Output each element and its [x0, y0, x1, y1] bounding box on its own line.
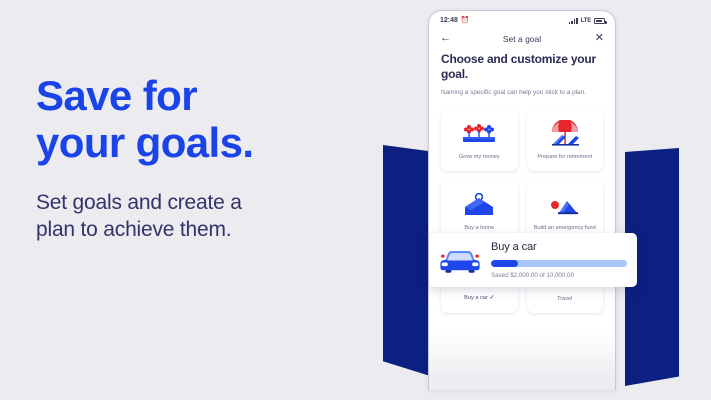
goal-progress-body: Buy a car Saved $2,000.00 of 10,000.00	[491, 241, 627, 279]
goal-tile-grow-my-money[interactable]: Grow my money	[441, 109, 518, 171]
screen-heading: Choose and customize your goal.	[441, 52, 603, 81]
goal-progress-card[interactable]: Buy a car Saved $2,000.00 of 10,000.00	[429, 233, 637, 287]
progress-label: Saved $2,000.00 of 10,000.00	[491, 272, 627, 279]
house-icon	[463, 190, 495, 220]
status-bar-left: 12:48 ⏰	[440, 17, 470, 24]
screen-heading-line-1: Choose and customize your	[441, 52, 596, 66]
headline-line-2: your goals.	[36, 119, 356, 166]
subhead-line-2: plan to achieve them.	[36, 217, 356, 244]
goal-tile-prepare-for-retirement[interactable]: Prepare for retirement	[527, 109, 604, 171]
screen-hint: Naming a specific goal can help you stic…	[441, 89, 603, 97]
phone-mockup: 12:48 ⏰ LTE ← Set a goal ✕ Choose and cu…	[428, 10, 616, 390]
status-bar: 12:48 ⏰ LTE	[429, 11, 615, 26]
phone-bottom-fade	[429, 332, 615, 390]
app-bar-title: Set a goal	[452, 34, 592, 44]
goal-tile-label: Buy a home	[464, 225, 494, 232]
flowers-icon	[462, 119, 496, 149]
battery-icon	[594, 18, 605, 24]
status-bar-right: LTE	[569, 17, 605, 24]
back-arrow-icon[interactable]: ←	[440, 33, 452, 44]
goal-tile-label: Prepare for retirement	[537, 154, 592, 161]
checkmark-icon: ✓	[489, 295, 494, 301]
goal-tile-label-text: Buy a car	[464, 295, 488, 301]
page-title: Save for your goals.	[36, 72, 356, 166]
app-bar: ← Set a goal ✕	[429, 26, 615, 52]
close-icon[interactable]: ✕	[592, 33, 604, 44]
marketing-copy: Save for your goals. Set goals and creat…	[36, 72, 356, 244]
beach-umbrella-icon	[549, 119, 581, 149]
goal-progress-title: Buy a car	[491, 241, 627, 253]
goal-tile-label: Grow my money	[459, 154, 500, 161]
network-label: LTE	[581, 18, 591, 24]
goal-tile-label: Buy a car ✓	[464, 295, 494, 303]
status-bar-time: 12:48	[440, 17, 458, 24]
screen-heading-line-2: goal.	[441, 67, 603, 82]
goal-tile-label: Travel	[557, 296, 572, 303]
alarm-icon: ⏰	[461, 17, 470, 24]
promo-banner: Save for your goals. Set goals and creat…	[0, 0, 711, 400]
umbrella-shield-icon	[549, 190, 581, 220]
subhead-line-1: Set goals and create a	[36, 191, 242, 214]
headline-line-1: Save for	[36, 72, 197, 119]
page-subtitle: Set goals and create a plan to achieve t…	[36, 190, 356, 244]
progress-bar	[491, 260, 627, 267]
progress-bar-fill	[491, 260, 518, 267]
car-icon	[438, 246, 482, 274]
signal-bars-icon	[569, 17, 578, 24]
goal-tile-label: Build an emergency fund	[534, 225, 596, 232]
